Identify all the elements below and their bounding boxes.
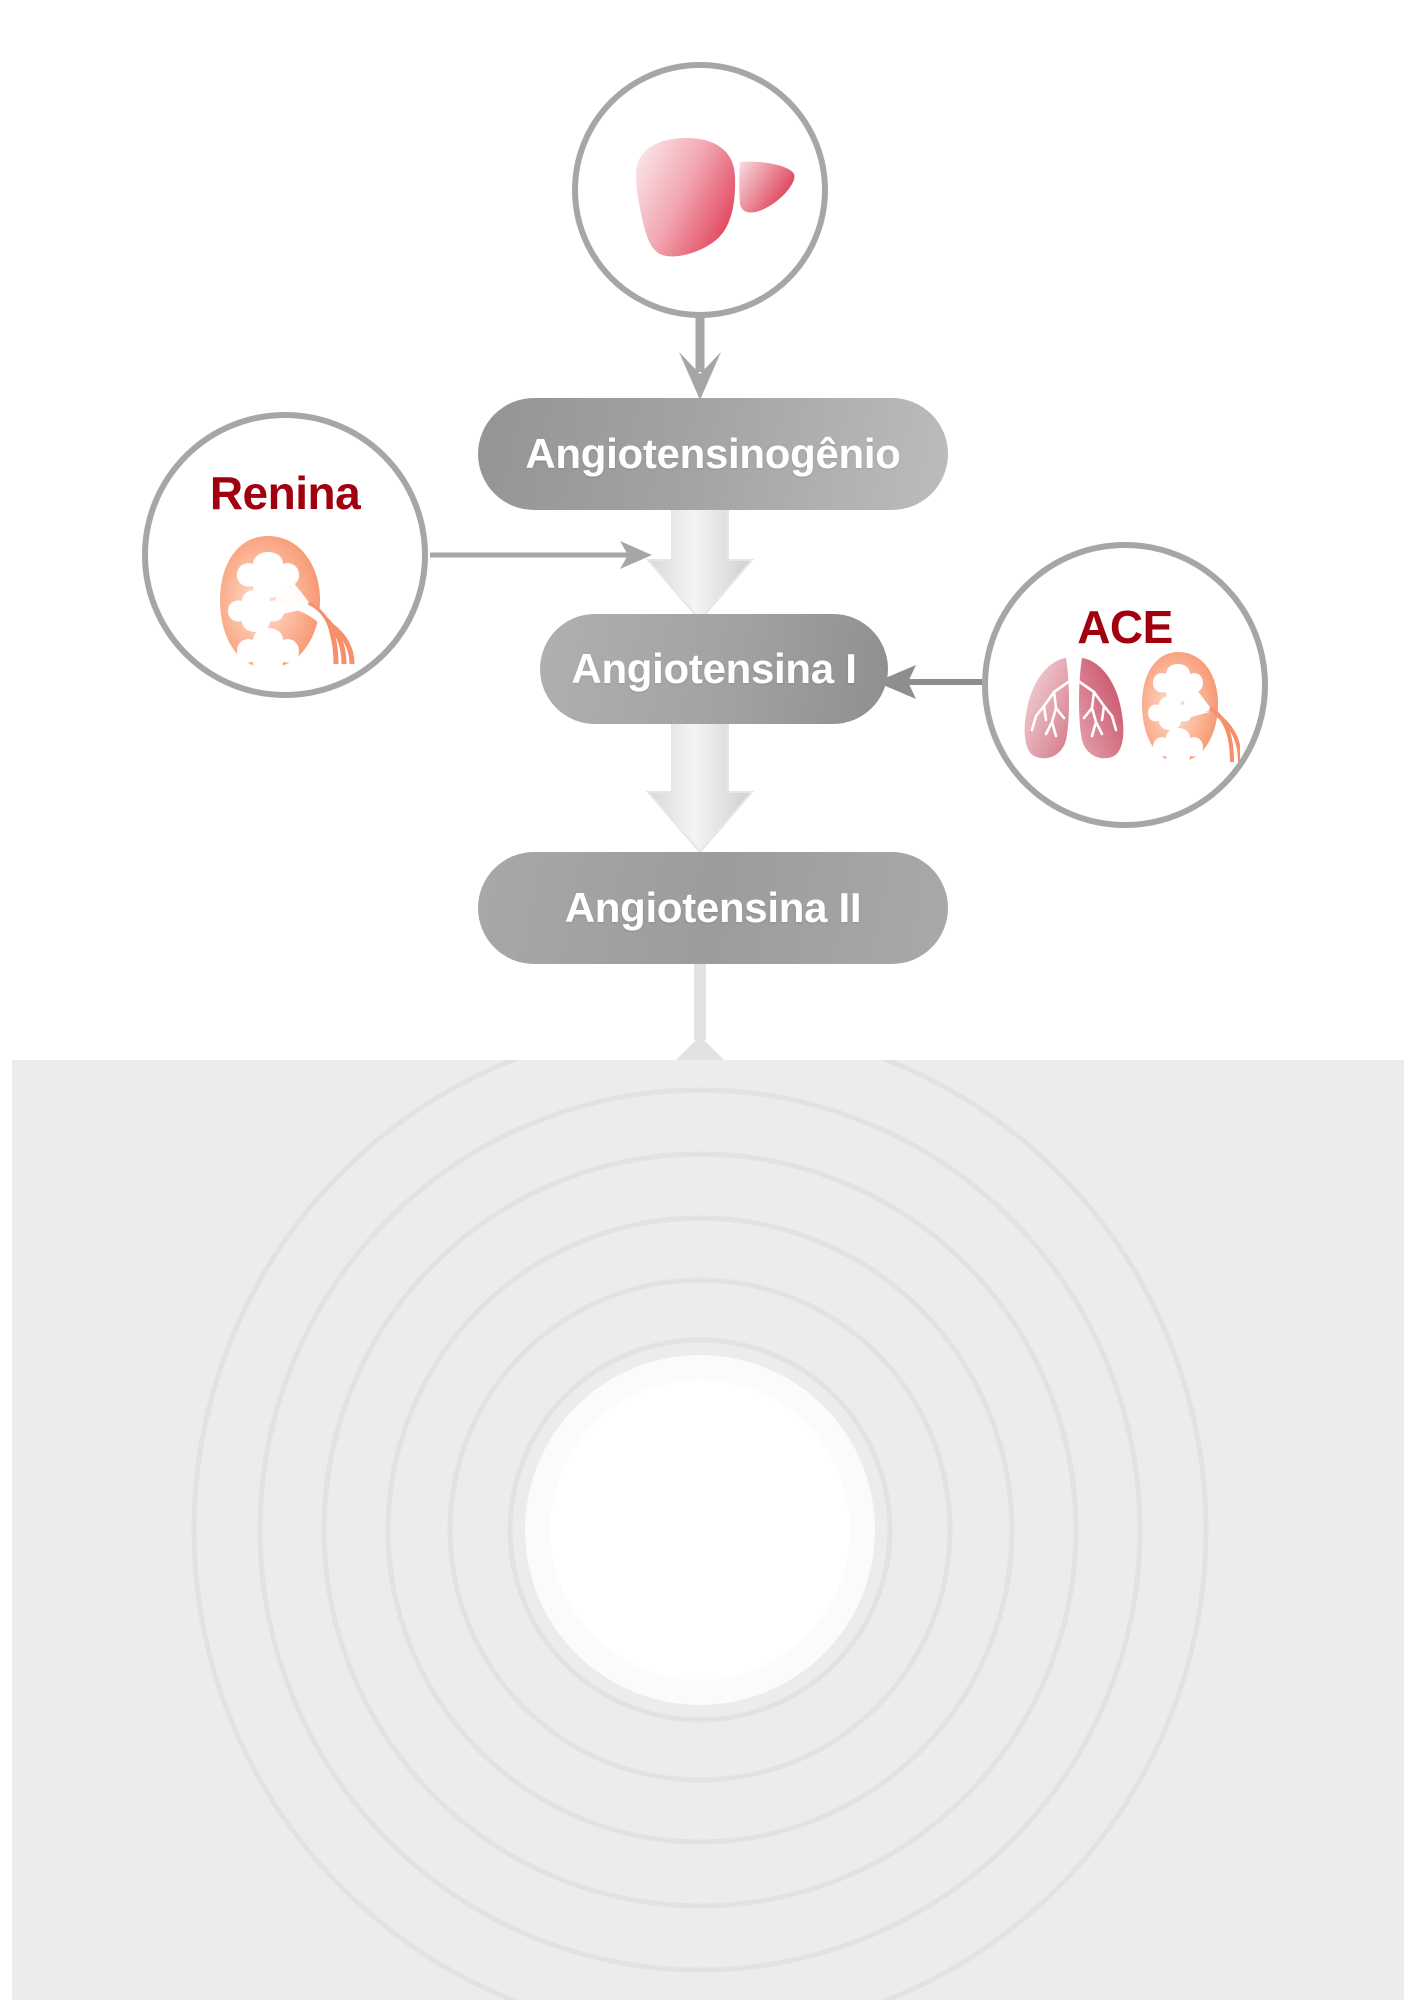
node-angiotensin-2[interactable]: Angiotensina II bbox=[478, 852, 948, 964]
effects-panel: Aldosterona bbox=[12, 1060, 1404, 2000]
pill-label: Angiotensina I bbox=[571, 645, 856, 693]
kidney-icon bbox=[196, 528, 376, 678]
liver-node[interactable] bbox=[572, 62, 828, 318]
node-angiotensin-1[interactable]: Angiotensina I bbox=[540, 614, 888, 724]
arrow-renin-to-angiotensin1 bbox=[430, 541, 652, 569]
renin-label: Renina bbox=[148, 466, 422, 520]
renin-node[interactable]: Renina bbox=[142, 412, 428, 698]
ace-node[interactable]: ACE bbox=[982, 542, 1268, 828]
pill-label: Angiotensinogênio bbox=[525, 430, 900, 478]
lungs-icon bbox=[1010, 648, 1240, 766]
arrow-angiotensin1-to-angiotensin2 bbox=[648, 718, 752, 852]
node-angiotensinogen[interactable]: Angiotensinogênio bbox=[478, 398, 948, 510]
pill-label: Angiotensina II bbox=[565, 884, 862, 932]
arrow-liver-to-angiotensinogen bbox=[679, 318, 721, 400]
arrow-ace-to-angiotensin1 bbox=[876, 665, 982, 699]
liver-icon bbox=[578, 68, 822, 312]
concentric-rings-decoration bbox=[12, 1060, 1404, 2000]
rass-diagram: Renina bbox=[0, 0, 1416, 2000]
ace-label: ACE bbox=[988, 600, 1262, 654]
arrow-angiotensinogen-to-angiotensin1 bbox=[648, 500, 752, 620]
